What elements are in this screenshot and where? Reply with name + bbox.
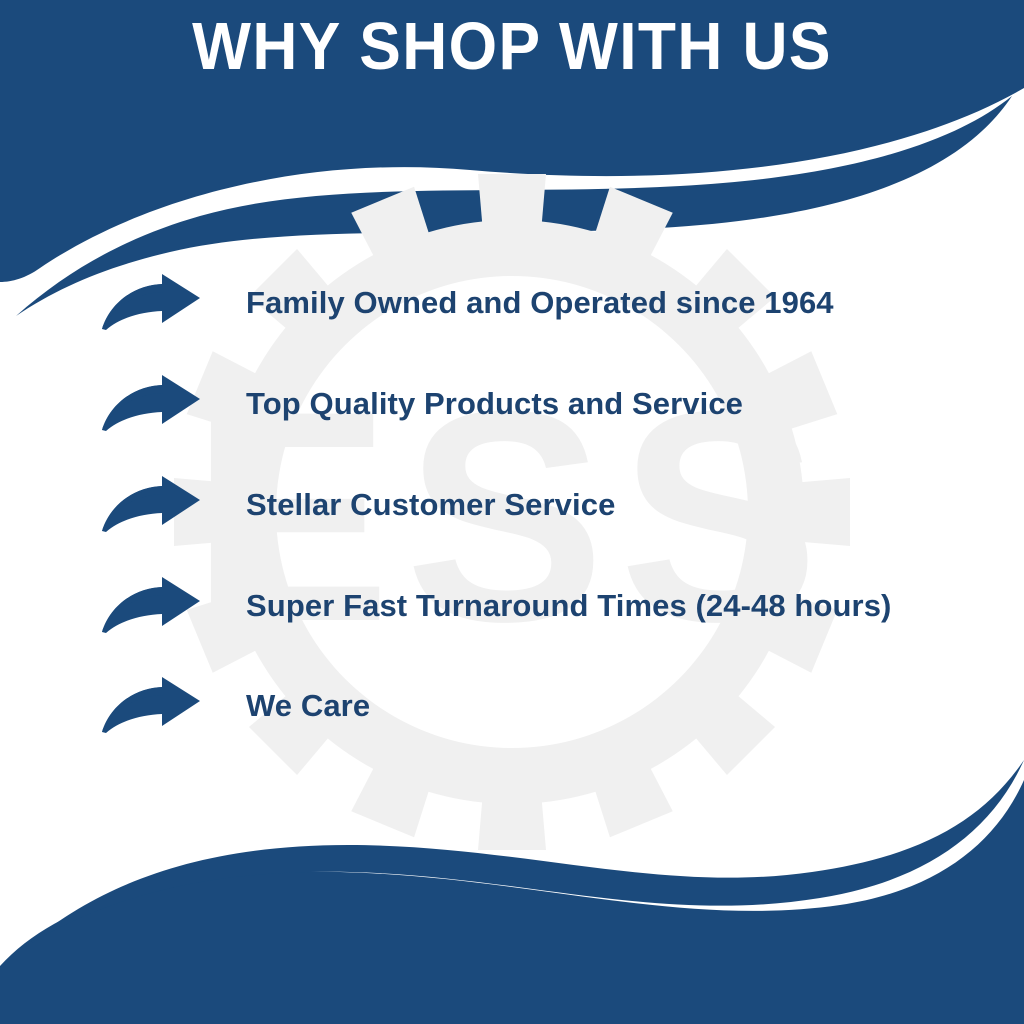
curved-arrow-right-icon: [100, 374, 202, 432]
list-item: We Care: [100, 675, 1020, 735]
list-item-label: Family Owned and Operated since 1964: [246, 287, 834, 318]
list-item: Top Quality Products and Service: [100, 373, 1020, 433]
benefits-list: Family Owned and Operated since 1964 Top…: [0, 0, 1024, 1024]
curved-arrow-right-icon: [100, 475, 202, 533]
list-item: Super Fast Turnaround Times (24-48 hours…: [100, 575, 1020, 635]
list-item: Family Owned and Operated since 1964: [100, 272, 1020, 332]
list-item-label: Super Fast Turnaround Times (24-48 hours…: [246, 590, 891, 621]
curved-arrow-right-icon: [100, 576, 202, 634]
list-item-label: Stellar Customer Service: [246, 489, 615, 520]
curved-arrow-right-icon: [100, 676, 202, 734]
promo-graphic-canvas: ESS WHY SHOP WITH US Family Owned and Op…: [0, 0, 1024, 1024]
list-item: Stellar Customer Service: [100, 474, 1020, 534]
curved-arrow-right-icon: [100, 273, 202, 331]
list-item-label: We Care: [246, 690, 370, 721]
list-item-label: Top Quality Products and Service: [246, 388, 743, 419]
